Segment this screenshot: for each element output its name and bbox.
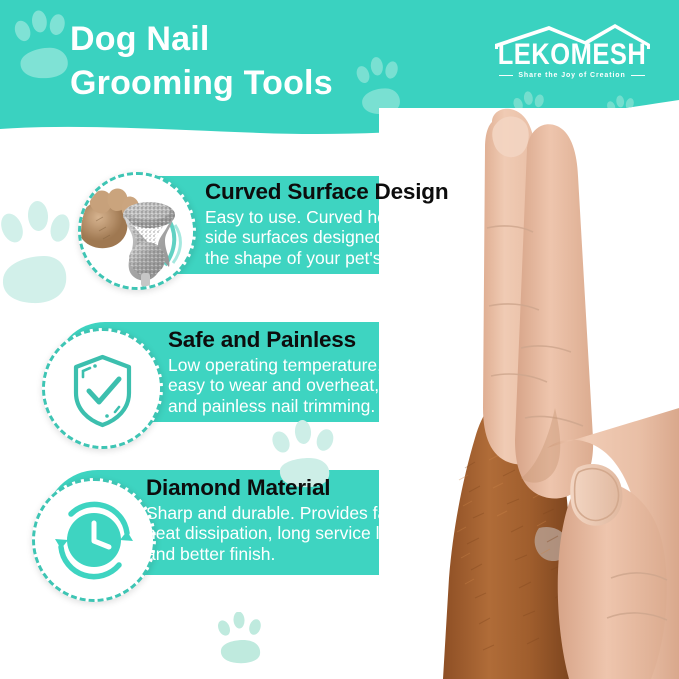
feature-title-3: Diamond Material (146, 476, 596, 501)
paw-watermark-bottom (215, 612, 271, 664)
paw-watermark-left (0, 200, 72, 320)
feature-title-1: Curved Surface Design (205, 180, 655, 205)
product-infographic-page: Dog Nail Grooming Tools LEKOMESH Share t… (0, 0, 679, 679)
grinding-bit-photo-illustration (81, 175, 193, 287)
feature-desc-1-line-3: the shape of your pet's nails. (205, 248, 655, 269)
page-title: Dog Nail Grooming Tools (70, 18, 400, 105)
page-title-line-1: Dog Nail (70, 18, 400, 62)
feature-desc-3-line-3: and better finish. (146, 544, 596, 565)
feature-title-2: Safe and Painless (168, 328, 618, 353)
feature-icon-circle-1 (78, 172, 196, 290)
feature-text-1: Curved Surface Design Easy to use. Curve… (205, 180, 655, 269)
feature-icon-circle-2 (42, 328, 163, 449)
shield-check-icon (45, 331, 160, 446)
feature-text-3: Diamond Material Sharp and durable. Prov… (146, 476, 596, 565)
feature-description-1: Easy to use. Curved head and side surfac… (205, 207, 655, 269)
feature-desc-3-line-2: heat dissipation, long service life (146, 523, 596, 544)
clock-refresh-icon (35, 481, 153, 599)
feature-desc-2-line-1: Low operating temperature, not (168, 355, 618, 376)
clock-refresh-glyph (35, 481, 153, 599)
feature-text-2: Safe and Painless Low operating temperat… (168, 328, 618, 417)
feature-desc-2-line-2: easy to wear and overheat, safe (168, 375, 618, 396)
feature-icon-circle-3 (32, 478, 156, 602)
tagline-rule-right (631, 75, 645, 77)
brand-tagline-row: Share the Joy of Creation (487, 72, 657, 79)
feature-desc-3-line-1: Sharp and durable. Provides fast (146, 503, 596, 524)
page-title-line-2: Grooming Tools (70, 62, 400, 106)
product-photo-grinding-bit-and-paw (81, 175, 193, 287)
feature-desc-2-line-3: and painless nail trimming. (168, 396, 618, 417)
brand-name: LEKOMESH (485, 38, 658, 72)
feature-desc-1-line-2: side surfaces designed to fit (205, 227, 655, 248)
feature-description-3: Sharp and durable. Provides fast heat di… (146, 503, 596, 565)
brand-tagline: Share the Joy of Creation (518, 72, 625, 79)
tagline-rule-left (499, 75, 513, 77)
brand-logo: LEKOMESH Share the Joy of Creation (487, 22, 657, 84)
shield-check-glyph (45, 331, 160, 446)
feature-description-2: Low operating temperature, not easy to w… (168, 355, 618, 417)
feature-desc-1-line-1: Easy to use. Curved head and (205, 207, 655, 228)
